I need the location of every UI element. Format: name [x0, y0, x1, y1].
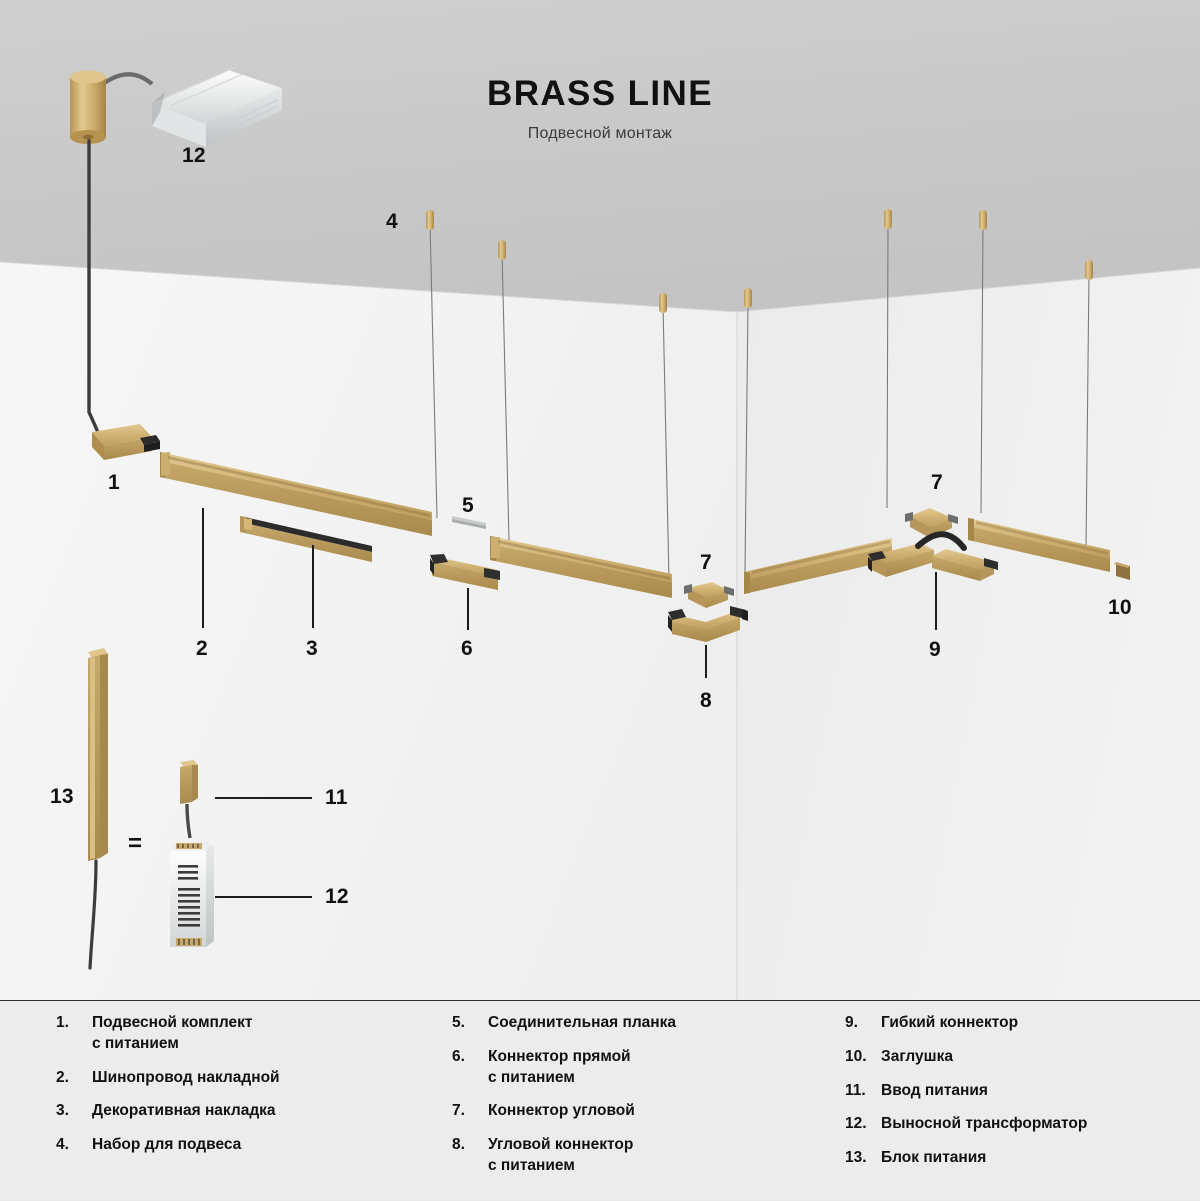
callout-7-left: 7: [700, 552, 712, 573]
scene-svg: [0, 0, 1200, 1000]
legend-item: 5. Соединительная планка: [452, 1013, 822, 1034]
legend-item-label: Декоративная накладка: [92, 1101, 276, 1122]
product-diagram-page: 12 1 2 3 4 5 6 7 7 8 9 10 11 12 13 = BRA…: [0, 0, 1200, 1200]
legend-item: 10. Заглушка: [845, 1047, 1190, 1068]
right-wall-plane: [737, 268, 1200, 1000]
legend-item-label: Шинопровод накладной: [92, 1068, 280, 1089]
legend-item: 3. Декоративная накладка: [56, 1101, 416, 1122]
callout-13: 13: [50, 786, 74, 807]
legend-item: 1. Подвесной комплект с питанием: [56, 1013, 416, 1055]
legend-item-number: 2.: [56, 1068, 92, 1089]
legend-item-label: Коннектор угловой: [488, 1101, 635, 1122]
legend-item-number: 9.: [845, 1013, 881, 1034]
legend-item-number: 4.: [56, 1135, 92, 1156]
brass-cylinder-power-feed: [70, 71, 106, 145]
legend-item-number: 6.: [452, 1047, 488, 1068]
legend-item-label: Ввод питания: [881, 1081, 988, 1102]
legend-item: 8. Угловой коннектор с питанием: [452, 1135, 822, 1177]
callout-8: 8: [700, 690, 712, 711]
legend-item: 13. Блок питания: [845, 1148, 1190, 1169]
callout-2: 2: [196, 638, 208, 659]
legend-item-number: 8.: [452, 1135, 488, 1156]
legend-column-1: 1. Подвесной комплект с питанием 2. Шино…: [56, 1013, 416, 1169]
legend-item-number: 11.: [845, 1081, 881, 1102]
callout-10: 10: [1108, 597, 1132, 618]
callout-3: 3: [306, 638, 318, 659]
legend-item: 4. Набор для подвеса: [56, 1135, 416, 1156]
legend-column-3: 9. Гибкий коннектор 10. Заглушка 11. Вво…: [845, 1013, 1190, 1182]
legend-item-label: Гибкий коннектор: [881, 1013, 1018, 1034]
legend-item: 7. Коннектор угловой: [452, 1101, 822, 1122]
callout-9: 9: [929, 639, 941, 660]
scene-illustration: 12 1 2 3 4 5 6 7 7 8 9 10 11 12 13 =: [0, 0, 1200, 1000]
callout-7-right: 7: [931, 472, 943, 493]
ceiling-plane: [0, 0, 1200, 312]
legend-item-label: Коннектор прямой с питанием: [488, 1047, 631, 1089]
legend-item-number: 12.: [845, 1114, 881, 1135]
legend-item-label: Угловой коннектор с питанием: [488, 1135, 633, 1177]
legend-item-label: Соединительная планка: [488, 1013, 676, 1034]
legend-panel: 1. Подвесной комплект с питанием 2. Шино…: [0, 1000, 1200, 1200]
legend-item: 6. Коннектор прямой с питанием: [452, 1047, 822, 1089]
callout-6: 6: [461, 638, 473, 659]
legend-item: 2. Шинопровод накладной: [56, 1068, 416, 1089]
callout-1: 1: [108, 472, 120, 493]
legend-column-2: 5. Соединительная планка 6. Коннектор пр…: [452, 1013, 822, 1190]
legend-item-number: 1.: [56, 1013, 92, 1034]
left-wall-plane: [0, 262, 737, 1000]
legend-item-label: Блок питания: [881, 1148, 986, 1169]
legend-item-number: 5.: [452, 1013, 488, 1034]
legend-item-label: Выносной трансформатор: [881, 1114, 1087, 1135]
legend-item-label: Набор для подвеса: [92, 1135, 241, 1156]
legend-item-label: Заглушка: [881, 1047, 953, 1068]
legend-item: 12. Выносной трансформатор: [845, 1114, 1190, 1135]
legend-item: 9. Гибкий коннектор: [845, 1013, 1190, 1034]
legend-item-number: 10.: [845, 1047, 881, 1068]
callout-4: 4: [386, 211, 398, 232]
legend-item-number: 3.: [56, 1101, 92, 1122]
callout-12-bottom: 12: [325, 886, 349, 907]
callout-12-top: 12: [182, 145, 206, 166]
legend-item-label: Подвесной комплект с питанием: [92, 1013, 253, 1055]
legend-item-number: 13.: [845, 1148, 881, 1169]
legend-item: 11. Ввод питания: [845, 1081, 1190, 1102]
part-12-bottom-transformer: [170, 840, 214, 947]
callout-11: 11: [325, 787, 348, 808]
legend-item-number: 7.: [452, 1101, 488, 1122]
equals-sign: =: [128, 832, 142, 856]
callout-5: 5: [462, 495, 474, 516]
